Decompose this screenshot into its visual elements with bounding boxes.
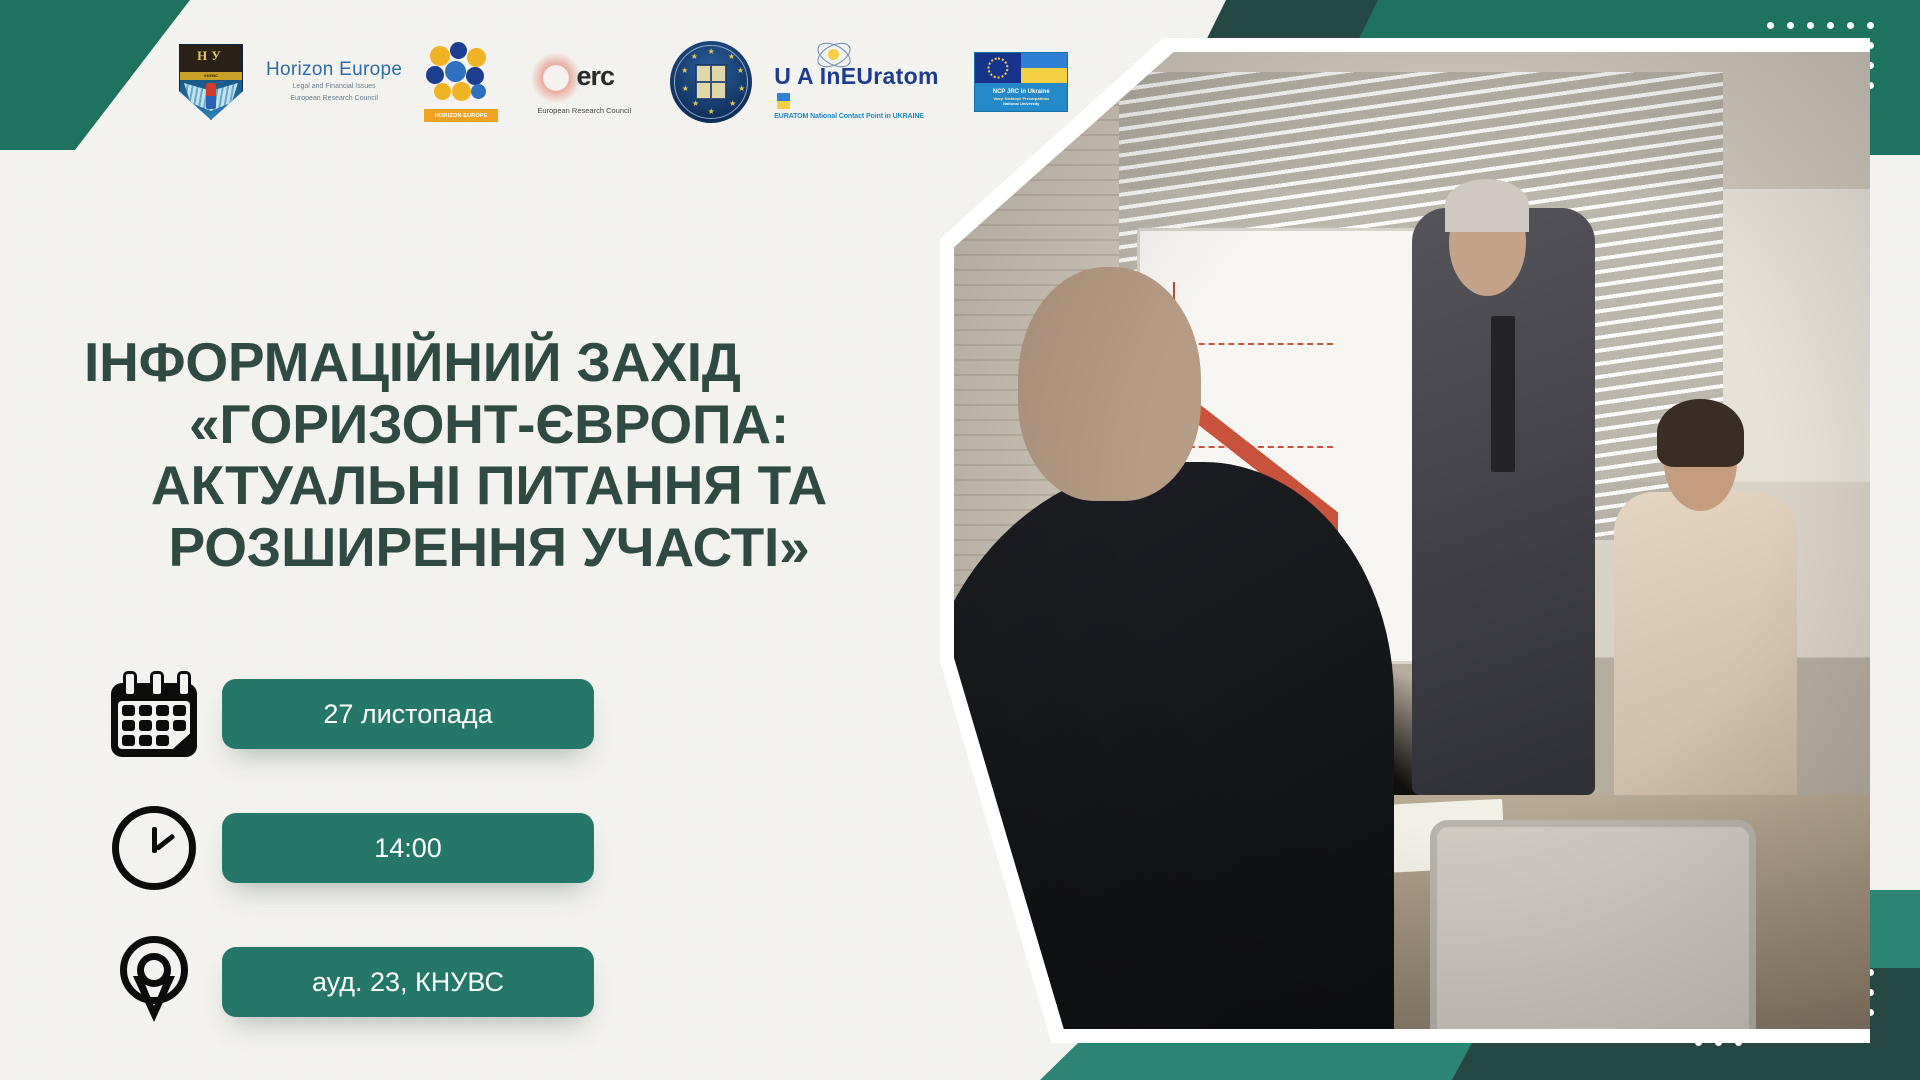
date-pill[interactable]: 27 листопада	[222, 679, 594, 749]
clock-icon	[100, 794, 208, 902]
shield-icon: НУ КНУВС	[179, 44, 243, 120]
location-pill[interactable]: ауд. 23, КНУВС	[222, 947, 594, 1017]
horizon-europe-ribbon-text: HORIZON EUROPE	[435, 113, 488, 119]
ncp-line-1: NCP JRC in Ukraine	[993, 89, 1050, 96]
ncp-line-3: National University	[1003, 101, 1039, 106]
calendar-icon	[100, 660, 208, 768]
ua-flag-icon	[1021, 53, 1067, 83]
erc-wordmark: erc	[576, 61, 614, 92]
horizon-europe-title: Horizon Europe	[266, 60, 402, 80]
time-pill[interactable]: 14:00	[222, 813, 594, 883]
event-detail-time: 14:00	[100, 794, 594, 902]
erc-logo: erc European Research Council	[520, 50, 648, 115]
photo-vignette	[954, 52, 1870, 1029]
uaineuratom-logo: U A InEUratom EURATOM National Contact P…	[774, 45, 952, 120]
event-detail-location: ауд. 23, КНУВС	[100, 928, 594, 1036]
horizon-europe-balls-logo: HORIZON EUROPE	[424, 42, 498, 122]
title-line-3: актуальні питання та	[84, 455, 894, 517]
event-detail-date: 27 листопада	[100, 660, 594, 768]
eu-stars: ★ ★ ★ ★ ★ ★ ★ ★ ★ ★	[679, 50, 743, 114]
title-line-1: Інформаційний захід	[84, 332, 894, 394]
top-left-teal-corner	[0, 0, 190, 150]
event-poster: НУ КНУВС Horizon Europe Legal and Financ…	[0, 0, 1920, 1080]
title-line-2: «Горизонт-Європа:	[84, 394, 894, 456]
knuvs-emblem-logo: НУ КНУВС	[178, 42, 244, 122]
eu-seal-icon: ★ ★ ★ ★ ★ ★ ★ ★ ★ ★	[670, 41, 752, 123]
atom-balls-icon	[424, 42, 498, 108]
ncp-jrc-logo: NCP JRC in Ukraine Vasyl Stefanyk Precar…	[974, 52, 1068, 112]
horizon-europe-subtitle-2: European Research Council	[290, 95, 378, 104]
horizon-europe-wordmark: Horizon Europe Legal and Financial Issue…	[266, 60, 402, 103]
title-line-4: розширення участі»	[84, 517, 894, 579]
eu-ua-flags	[975, 53, 1067, 83]
event-details: 27 листопада 14:00 ауд. 23, КНУВС	[100, 660, 594, 1036]
page-title: Інформаційний захід «Горизонт-Європа: ак…	[84, 332, 894, 578]
meeting-photo	[954, 52, 1870, 1029]
eu-seal-logo: ★ ★ ★ ★ ★ ★ ★ ★ ★ ★	[670, 41, 752, 123]
horizon-europe-ribbon: HORIZON EUROPE	[424, 109, 498, 122]
location-pin-icon	[100, 928, 208, 1036]
knuvs-emblem-band-text: КНУВС	[180, 72, 242, 80]
horizon-europe-subtitle-1: Legal and Financial Issues	[293, 83, 376, 92]
ncp-jrc-badge: NCP JRC in Ukraine Vasyl Stefanyk Precar…	[974, 52, 1068, 112]
photo-panel	[940, 38, 1870, 1043]
erc-mark-icon: erc	[524, 50, 644, 104]
uaineuratom-main-text: U A InEUratom	[774, 63, 938, 89]
eu-flag-icon	[975, 53, 1021, 83]
atom-icon	[816, 45, 850, 67]
ukraine-flag-icon	[777, 93, 790, 109]
uaineuratom-subtitle: EURATOM National Contact Point in UKRAIN…	[774, 113, 924, 120]
erc-caption: European Research Council	[537, 106, 631, 115]
logo-row: НУ КНУВС Horizon Europe Legal and Financ…	[178, 40, 1068, 124]
uaineuratom-wordmark: U A InEUratom	[774, 65, 952, 111]
knuvs-emblem-letters: НУ	[180, 48, 242, 64]
